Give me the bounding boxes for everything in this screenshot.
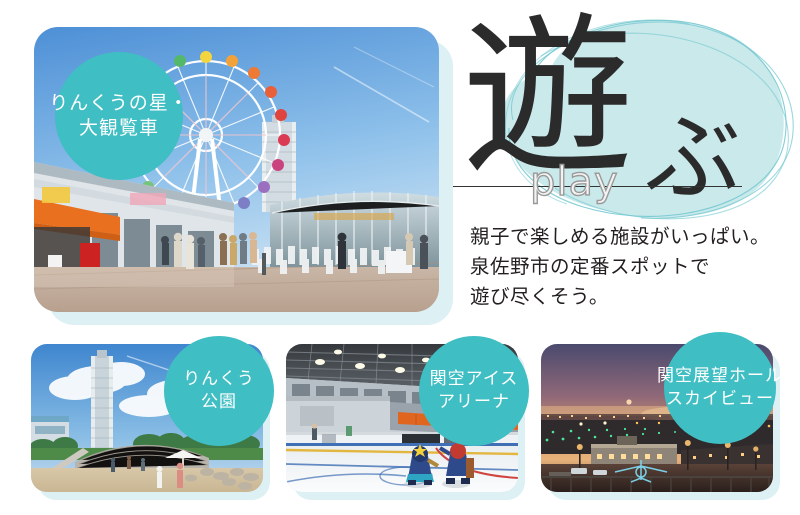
main-photo-badge: りんくうの星・ 大観覧車: [55, 52, 183, 180]
hero-romaji-play: play: [530, 162, 619, 202]
thumb-1-badge-line-1: りんくう: [183, 368, 255, 391]
thumb-3-badge-line-1: 関空展望ホール: [657, 365, 783, 388]
thumb-3-badge-line-2: スカイビュー: [666, 388, 774, 411]
main-photo-badge-line-1: りんくうの星・: [49, 91, 189, 116]
lead-line-1: 親子で楽しめる施設がいっぱい。: [470, 222, 800, 252]
lead-paragraph: 親子で楽しめる施設がいっぱい。 泉佐野市の定番スポットで 遊び尽くそう。: [470, 222, 800, 312]
thumb-1-badge-line-2: 公園: [201, 391, 237, 414]
thumb-3-badge: 関空展望ホール スカイビュー: [664, 332, 776, 444]
thumb-2-badge-line-2: アリーナ: [438, 391, 510, 414]
thumb-2-badge: 関空アイス アリーナ: [419, 336, 529, 446]
lead-line-3: 遊び尽くそう。: [470, 282, 800, 312]
thumb-1-badge: りんくう 公園: [164, 336, 274, 446]
thumb-2-badge-line-1: 関空アイス: [430, 368, 519, 391]
hero-kana-bu: ぶ: [645, 110, 741, 206]
main-photo-card[interactable]: りんくうの星・ 大観覧車: [34, 27, 439, 312]
main-photo-badge-line-2: 大観覧車: [79, 116, 159, 141]
promo-banner: 遊 ぶ play 親子で楽しめる施設がいっぱい。 泉佐野市の定番スポットで 遊び…: [0, 0, 800, 515]
lead-line-2: 泉佐野市の定番スポットで: [470, 252, 800, 282]
